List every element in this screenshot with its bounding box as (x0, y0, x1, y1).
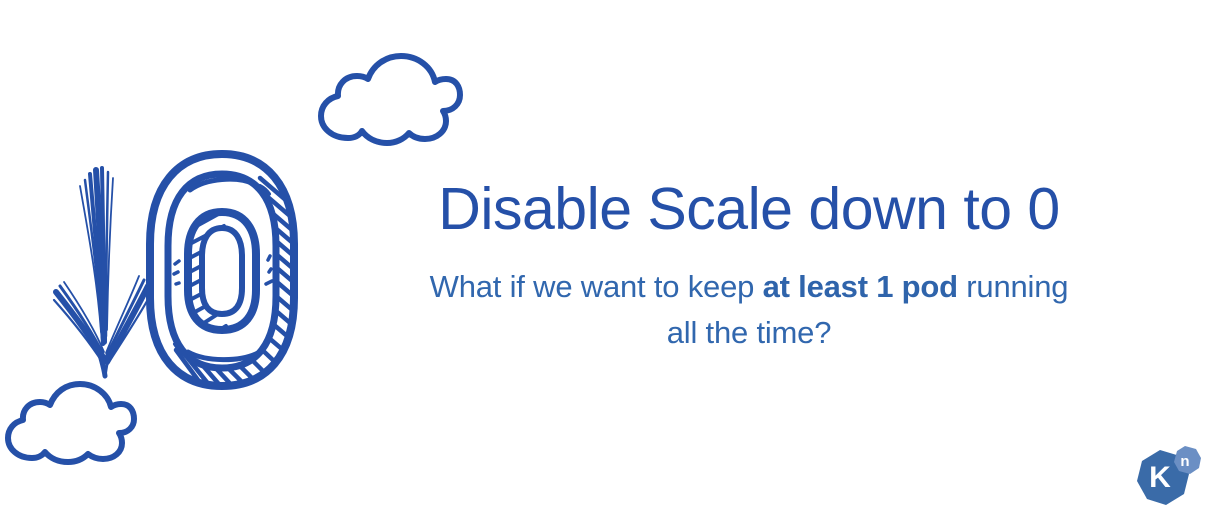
text-block: Disable Scale down to 0 What if we want … (388, 178, 1110, 357)
cloud-outline-icon (0, 378, 144, 466)
hand-drawn-down-arrow-icon (52, 160, 156, 386)
subtitle-text-after: running (958, 269, 1068, 304)
subtitle-text-before: What if we want to keep (430, 269, 763, 304)
subtitle-line2: all the time? (667, 315, 832, 350)
page-title: Disable Scale down to 0 (388, 178, 1110, 242)
subtitle-emphasis: at least 1 pod (763, 269, 958, 304)
brand-logo: K n (1132, 446, 1206, 516)
subtitle: What if we want to keep at least 1 pod r… (388, 242, 1110, 357)
subtitle-line1: What if we want to keep at least 1 pod r… (430, 269, 1069, 304)
slide-canvas: Disable Scale down to 0 What if we want … (0, 0, 1212, 525)
cloud-outline-icon (312, 52, 464, 148)
hand-drawn-zero-icon (142, 148, 306, 392)
logo-letter-n: n (1170, 446, 1200, 476)
